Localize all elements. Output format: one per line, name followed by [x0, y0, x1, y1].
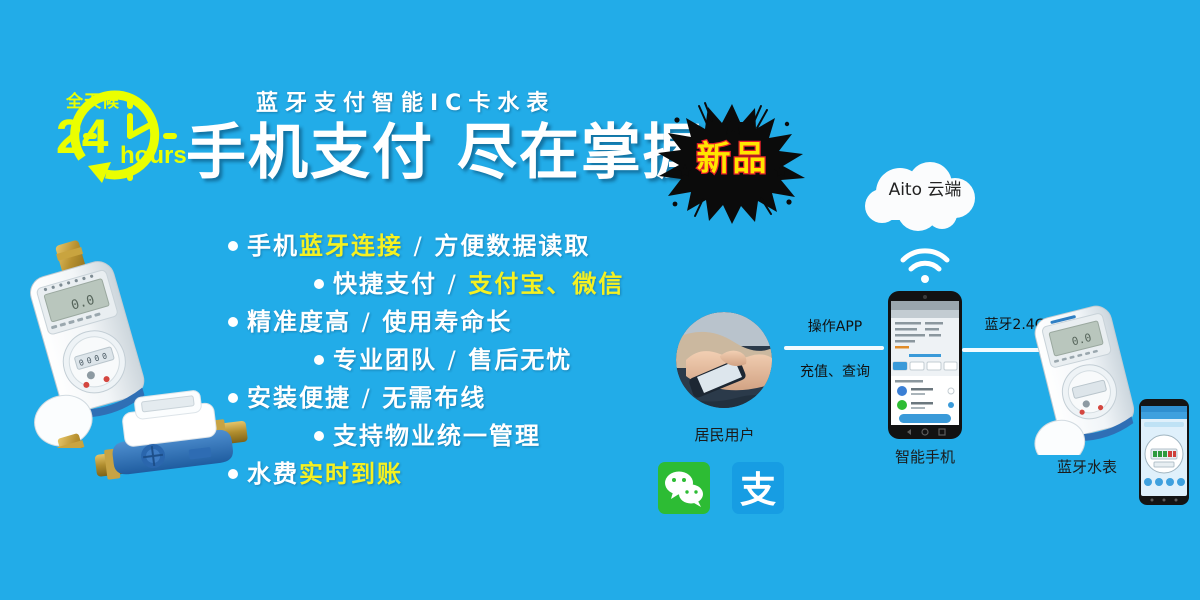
bluetooth-water-meter: 0.0 — [1025, 300, 1150, 455]
bullet-dot-icon — [314, 279, 324, 289]
feature-highlight: 蓝牙连接 — [299, 232, 403, 260]
feature-plain: 快捷支付 — [333, 270, 437, 298]
meter-app-phone — [1138, 398, 1190, 506]
link-label-app: 操作APP — [780, 320, 890, 334]
new-product-badge: 新品 — [655, 98, 810, 226]
feature-text: 手机蓝牙连接 / 方便数据读取 — [247, 234, 590, 258]
banner-title: 手机支付 尽在掌握 — [186, 122, 705, 185]
feature-plain: 精准度高 — [247, 308, 351, 336]
feature-text: 专业团队 / 售后无忧 — [333, 348, 572, 372]
valve-water-meter — [88, 368, 248, 493]
feature-plain: 安装便捷 — [247, 384, 351, 412]
new-badge-label: 新品 — [655, 142, 810, 176]
banner-subtitle: 蓝牙支付智能IC卡水表 — [256, 93, 555, 115]
feature-plain: / — [437, 346, 468, 374]
feature-text: 水费实时到账 — [247, 462, 403, 486]
bullet-dot-icon — [314, 355, 324, 365]
feature-highlight: 支付宝、微信 — [468, 270, 624, 298]
feature-plain: / — [437, 270, 468, 298]
feature-text: 支持物业统一管理 — [333, 424, 541, 448]
bullet-dot-icon — [228, 317, 238, 327]
cloud-label: Aito 云端 — [860, 182, 990, 199]
24hours-badge: 全天候 24 hours — [48, 86, 198, 186]
feature-plain: 方便数据读取 — [434, 232, 590, 260]
feature-plain: 手机 — [247, 232, 299, 260]
meter-caption: 蓝牙水表 — [1022, 460, 1152, 475]
feature-list: 手机蓝牙连接 / 方便数据读取快捷支付 / 支付宝、微信精准度高 / 使用寿命长… — [228, 234, 698, 500]
feature-plain: 售后无忧 — [468, 346, 572, 374]
feature-plain: / — [351, 384, 382, 412]
smartphone-mockup — [887, 290, 963, 440]
feature-item: 水费实时到账 — [228, 462, 698, 486]
feature-highlight: 实时到账 — [299, 460, 403, 488]
phone-caption: 智能手机 — [860, 450, 990, 465]
feature-plain: 无需布线 — [382, 384, 486, 412]
alipay-icon[interactable]: 支 — [732, 462, 784, 514]
badge-24-unit: hours — [120, 144, 187, 168]
wechat-pay-icon[interactable] — [658, 462, 710, 514]
feature-plain: 支持物业统一管理 — [333, 422, 541, 450]
feature-item: 精准度高 / 使用寿命长 — [228, 310, 698, 334]
feature-item: 快捷支付 / 支付宝、微信 — [314, 272, 698, 296]
feature-item: 支持物业统一管理 — [314, 424, 698, 448]
feature-plain: 专业团队 — [333, 346, 437, 374]
svg-text:支: 支 — [740, 470, 776, 511]
badge-24-number: 24 — [56, 114, 107, 162]
bullet-dot-icon — [228, 241, 238, 251]
bullet-dot-icon — [314, 431, 324, 441]
payment-icons: 支 — [658, 462, 784, 514]
connector-line-left — [784, 346, 884, 350]
resident-user-photo — [676, 312, 772, 408]
promo-banner: 全天候 24 hours 蓝牙支付智能IC卡水表 手机支付 尽在掌握 新品 — [0, 0, 1200, 600]
feature-text: 安装便捷 / 无需布线 — [247, 386, 486, 410]
link-label-pay: 充值、查询 — [780, 365, 890, 379]
resident-user-caption: 居民用户 — [662, 428, 787, 443]
wifi-icon — [898, 248, 952, 284]
feature-plain: / — [403, 232, 434, 260]
feature-plain: 水费 — [247, 460, 299, 488]
feature-text: 精准度高 / 使用寿命长 — [247, 310, 512, 334]
feature-item: 手机蓝牙连接 / 方便数据读取 — [228, 234, 698, 258]
feature-plain: / — [351, 308, 382, 336]
feature-text: 快捷支付 / 支付宝、微信 — [333, 272, 624, 296]
feature-item: 安装便捷 / 无需布线 — [228, 386, 698, 410]
feature-item: 专业团队 / 售后无忧 — [314, 348, 698, 372]
badge-24-cn-label: 全天候 — [66, 94, 120, 111]
feature-plain: 使用寿命长 — [382, 308, 512, 336]
